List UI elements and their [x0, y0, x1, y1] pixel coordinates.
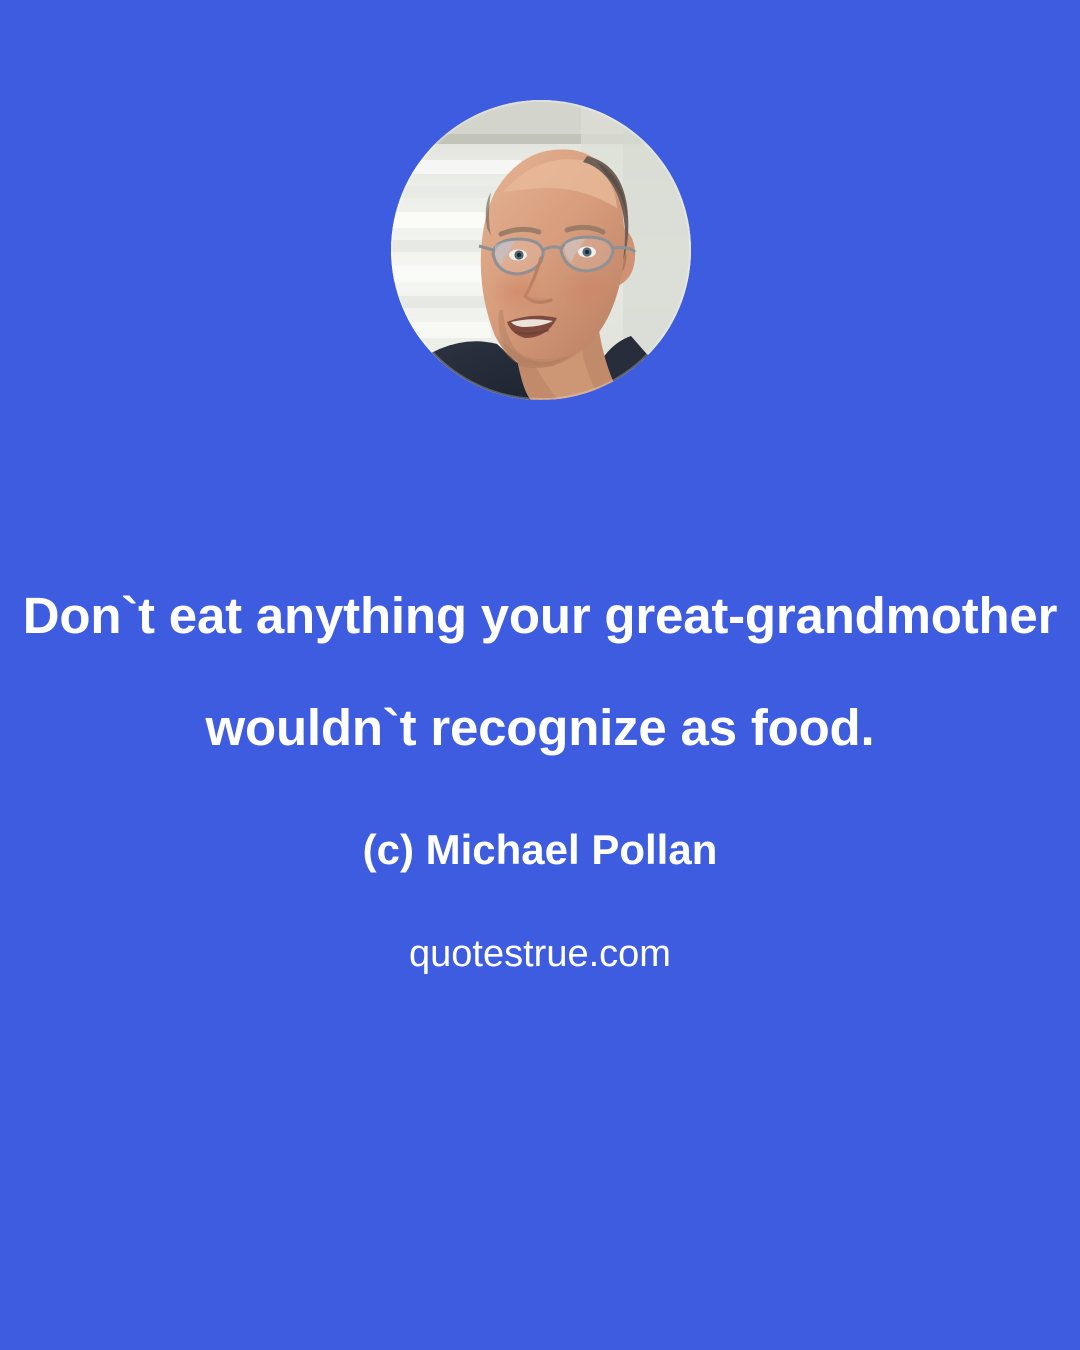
quote-attribution: (c) Michael Pollan — [0, 802, 1080, 898]
quote-text-block: Don`t eat anything your great-grandmothe… — [0, 560, 1080, 1002]
quote-line-2: wouldn`t recognize as food. — [0, 672, 1080, 784]
source-website[interactable]: quotestrue.com — [0, 906, 1080, 1002]
avatar — [391, 100, 691, 400]
quote-card: Don`t eat anything your great-grandmothe… — [0, 0, 1080, 1350]
quote-line-1: Don`t eat anything your great-grandmothe… — [0, 560, 1080, 672]
portrait-photo-icon — [391, 100, 691, 400]
